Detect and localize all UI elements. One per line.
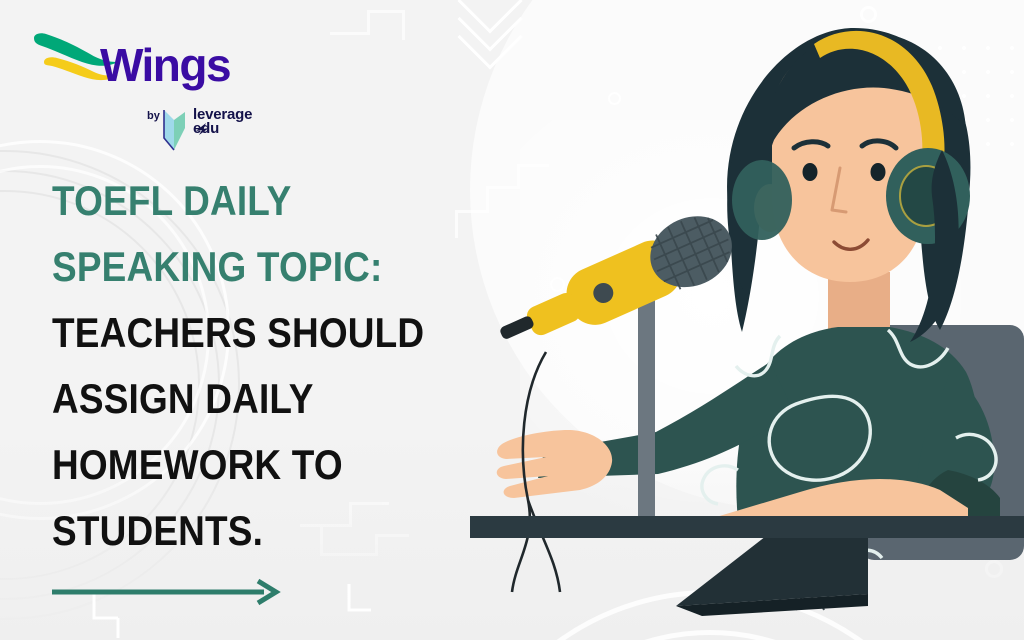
desk-surface — [470, 516, 1024, 538]
left-hand — [497, 430, 612, 498]
microphone — [488, 204, 743, 367]
headphone-cup-left — [732, 160, 792, 240]
leverage-edu-spark-icon — [195, 122, 211, 136]
read-more-arrow-icon[interactable] — [50, 578, 285, 606]
promo-banner: Wings by leverage edu TOEFL Daily Speaki… — [0, 0, 1024, 640]
brand-logo[interactable]: Wings by leverage edu — [30, 22, 250, 142]
page-title: TOEFL Daily Speaking Topic: Teachers sho… — [52, 168, 430, 564]
leverage-edu-book-icon — [161, 108, 191, 152]
headline-accent: TOEFL Daily Speaking Topic: — [52, 177, 383, 290]
background-corner-mark — [345, 580, 381, 620]
eye-left — [803, 163, 818, 181]
headline-body: Teachers should assign daily homework to… — [52, 309, 424, 554]
microphone-cable-connector — [499, 315, 535, 341]
logo-wordmark: Wings — [100, 38, 230, 92]
microphone-stand — [638, 270, 655, 528]
laptop-screen — [676, 536, 868, 606]
eye-right — [871, 163, 886, 181]
background-maze-pattern — [330, 0, 440, 70]
podcaster-illustration — [470, 0, 1024, 640]
logo-by-label: by — [147, 110, 160, 122]
